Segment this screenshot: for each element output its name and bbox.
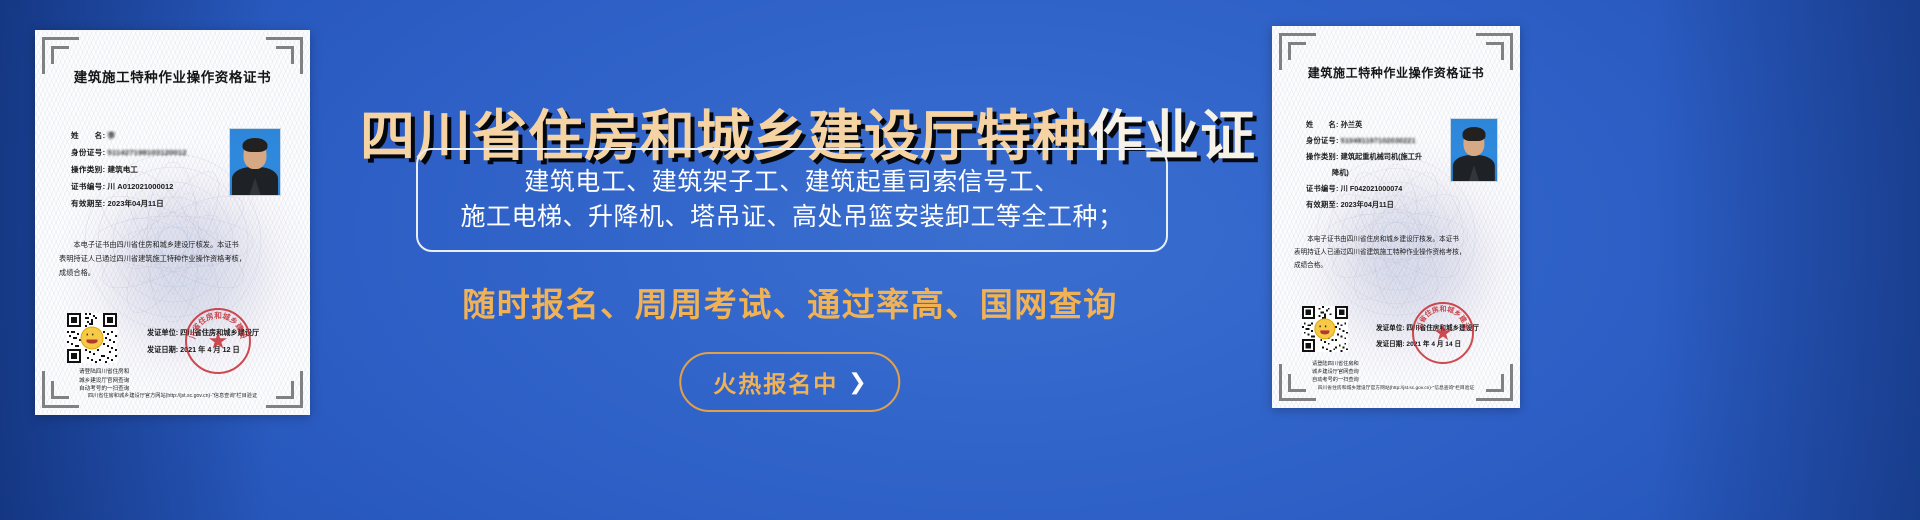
photo-hair [243, 138, 268, 153]
ornament-corner-bottom-left [1279, 364, 1316, 401]
cert-field-id-left: 身份证号: 511427198103120012 [71, 147, 187, 158]
ornament-corner-bottom-right [1476, 364, 1513, 401]
cert-field-value: 降机) [1332, 168, 1349, 177]
trades-line-1: 建筑电工、建筑架子工、建筑起重司索信号工、 [524, 170, 1060, 195]
cert-field-name-left: 姓 名: 李 [71, 130, 139, 141]
enroll-now-button[interactable]: 火热报名中 ❯ [679, 352, 900, 412]
cert-para-line: 本电子证书由四川省住房和城乡建设厅核发。本证书 [59, 238, 289, 252]
certificate-card-left: 建筑施工特种作业操作资格证书 姓 名: 李 身份证号: 511427198103… [35, 30, 310, 415]
ornament-corner-bottom-left [42, 371, 79, 408]
cert-para-line: 表明持证人已通过四川省建筑施工特种作业操作资格考核， [59, 252, 289, 266]
cert-field-label: 身份证号: [1306, 136, 1339, 145]
cert-field-category-left: 操作类别: 建筑电工 [71, 164, 138, 175]
svg-text:四川省住房和城乡建设厅: 四川省住房和城乡建设厅 [187, 310, 249, 341]
enroll-now-label: 火热报名中 [713, 365, 838, 399]
certificate-card-right: 建筑施工特种作业操作资格证书 姓 名: 孙兰英 身份证号: 5104811971… [1272, 26, 1520, 408]
cert-field-value: 川 A012021000012 [108, 182, 174, 191]
cert-issue-date-label: 发证日期: [147, 345, 178, 354]
cert-field-validity-right: 有效期至: 2023年04月11日 [1306, 200, 1394, 210]
cert-field-label: 证书编号: [71, 182, 105, 191]
certificate-photo-right [1450, 118, 1498, 182]
cert-field-label: 操作类别: [71, 165, 105, 174]
cert-field-label: 操作类别: [1306, 152, 1339, 161]
cert-field-value: 510481197102030221 [1341, 136, 1416, 145]
cert-para-line: 表明持证人已通过四川省建筑施工特种作业操作资格考核， [1294, 247, 1502, 260]
official-seal-right: 四川省住房和城乡建设厅 [1412, 302, 1474, 364]
cert-note-line: 城乡建设厅官网查询 [79, 377, 129, 386]
cert-field-category-right: 操作类别: 建筑起重机械司机(施工升 [1306, 152, 1422, 162]
cert-notes-left: 请登陆四川省住房和 城乡建设厅官网查询 自动考号的一扫查询 [79, 368, 129, 394]
trades-info-box: 建筑电工、建筑架子工、建筑起重司索信号工、 施工电梯、升降机、塔吊证、高处吊篮安… [416, 148, 1168, 252]
cert-field-value: 2023年04月11日 [108, 199, 164, 208]
qr-code-left[interactable] [67, 313, 117, 363]
cert-field-label: 身份证号: [71, 148, 105, 157]
cert-note-line: 城乡建设厅官网查询 [1312, 368, 1359, 376]
photo-hair [1463, 127, 1486, 141]
official-seal-left: 四川省住房和城乡建设厅 [185, 308, 251, 374]
cert-notes-right: 请登陆四川省住房和 城乡建设厅官网查询 自动考号的一扫查询 [1312, 360, 1359, 384]
cert-footer-left: 四川省住房和城乡建设厅官方网站(http://jst.sc.gov.cn)-"信… [35, 392, 310, 399]
cert-field-value: 李 [108, 131, 139, 140]
banner-content: 四川省住房和城乡建设厅特种作业证 建筑电工、建筑架子工、建筑起重司索信号工、 施… [360, 0, 1220, 520]
cert-field-value: 2023年04月11日 [1341, 200, 1394, 209]
svg-text:四川省住房和城乡建设厅: 四川省住房和城乡建设厅 [1414, 304, 1472, 332]
cert-field-label: 有效期至: [1306, 200, 1339, 209]
cert-note-line: 自动考号的一扫查询 [1312, 376, 1359, 384]
qr-center-emoji-icon [81, 327, 104, 350]
cert-field-value: 建筑起重机械司机(施工升 [1341, 152, 1422, 161]
cert-footer-right: 四川省住房和城乡建设厅官方网站(http://jst.sc.gov.cn)-"信… [1272, 384, 1520, 391]
cert-field-label: 姓 名: [1306, 120, 1339, 129]
cert-field-number-left: 证书编号: 川 A012021000012 [71, 181, 173, 192]
cert-field-value: 孙兰英 [1341, 120, 1363, 129]
cert-para-line: 成绩合格。 [1294, 260, 1502, 273]
certificate-paragraph-left: 本电子证书由四川省住房和城乡建设厅核发。本证书 表明持证人已通过四川省建筑施工特… [59, 238, 289, 280]
cert-field-label: 证书编号: [1306, 184, 1339, 193]
certificate-title-right: 建筑施工特种作业操作资格证书 [1272, 64, 1520, 81]
promo-banner: 建筑施工特种作业操作资格证书 姓 名: 李 身份证号: 511427198103… [0, 0, 1920, 520]
cert-field-label: 有效期至: [71, 199, 105, 208]
certificate-photo-left [229, 128, 281, 196]
cert-issuer-label: 发证单位: [1376, 325, 1405, 332]
cert-note-line: 请登陆四川省住房和 [79, 368, 129, 377]
banner-tagline: 随时报名、周周考试、通过率高、国网查询 [360, 278, 1220, 326]
cert-field-number-right: 证书编号: 川 F042021000074 [1306, 184, 1402, 194]
cert-para-line: 成绩合格。 [59, 266, 289, 280]
cert-note-line: 请登陆四川省住房和 [1312, 360, 1359, 368]
cert-para-line: 本电子证书由四川省住房和城乡建设厅核发。本证书 [1294, 234, 1502, 247]
qr-code-right[interactable] [1302, 306, 1348, 352]
cert-issue-date-label: 发证日期: [1376, 341, 1405, 348]
seal-arc-text: 四川省住房和城乡建设厅 [1414, 304, 1472, 362]
cert-field-id-right: 身份证号: 510481197102030221 [1306, 136, 1416, 146]
certificate-title-left: 建筑施工特种作业操作资格证书 [35, 66, 310, 86]
trades-line-2: 施工电梯、升降机、塔吊证、高处吊篮安装卸工等全工种； [460, 205, 1123, 230]
cert-issuer-label: 发证单位: [147, 328, 178, 337]
seal-arc-text: 四川省住房和城乡建设厅 [187, 310, 249, 372]
cert-field-value: 川 F042021000074 [1341, 184, 1403, 193]
certificate-paragraph-right: 本电子证书由四川省住房和城乡建设厅核发。本证书 表明持证人已通过四川省建筑施工特… [1294, 234, 1502, 273]
cert-field-name-right: 姓 名: 孙兰英 [1306, 120, 1362, 130]
cert-field-validity-left: 有效期至: 2023年04月11日 [71, 198, 164, 209]
ornament-corner-bottom-right [266, 371, 303, 408]
chevron-right-icon: ❯ [848, 371, 866, 393]
cert-field-value: 建筑电工 [108, 165, 138, 174]
cert-field-category-cont-right: 降机) [1332, 168, 1349, 178]
cert-field-value: 511427198103120012 [108, 148, 187, 157]
cert-field-label: 姓 名: [71, 131, 105, 140]
